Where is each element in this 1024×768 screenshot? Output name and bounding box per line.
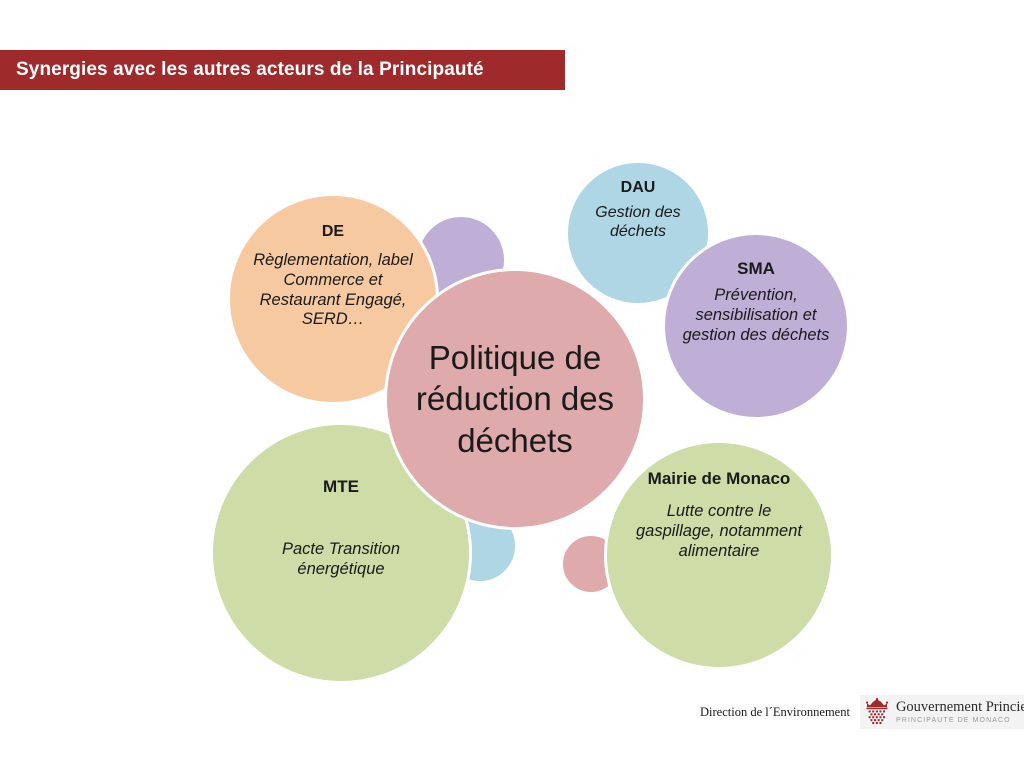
bubble-mte-title: MTE	[323, 477, 359, 496]
bubble-de-title: DE	[322, 223, 344, 241]
bubble-de-body: Règlementation, label Commerce et Restau…	[245, 251, 421, 330]
synergies-bubble-diagram: DE Règlementation, label Commerce et Res…	[0, 0, 1024, 768]
bubble-mairie-body: Lutte contre le gaspillage, notamment al…	[635, 502, 803, 561]
bubble-center-title: Politique de réduction des déchets	[390, 337, 640, 461]
bubble-sma[interactable]: SMA Prévention, sensibilisation et gesti…	[662, 232, 850, 420]
slide-footer: Direction de l´Environnement	[700, 692, 1000, 732]
bubble-mte-body: Pacte Transition énergétique	[246, 540, 436, 580]
bubble-center-policy[interactable]: Politique de réduction des déchets	[384, 268, 646, 530]
bubble-dau-body: Gestion des déchets	[586, 203, 690, 241]
slide-canvas: Synergies avec les autres acteurs de la …	[0, 0, 1024, 768]
bubble-sma-title: SMA	[737, 259, 775, 278]
logo-sub-text: PRINCIPAUTE DE MONACO	[896, 717, 1024, 724]
logo-text-group: Gouvernement Princier PRINCIPAUTE DE MON…	[896, 700, 1024, 724]
bubble-mairie-title: Mairie de Monaco	[644, 469, 794, 488]
monaco-crown-crest-icon	[864, 698, 890, 726]
bubble-mairie-de-monaco[interactable]: Mairie de Monaco Lutte contre le gaspill…	[604, 440, 834, 670]
bubble-dau-title: DAU	[621, 179, 656, 197]
footer-department-name: Direction de l´Environnement	[700, 705, 850, 720]
logo-main-text: Gouvernement Princier	[896, 700, 1024, 715]
bubble-sma-body: Prévention, sensibilisation et gestion d…	[674, 286, 838, 345]
gouvernement-princier-logo: Gouvernement Princier PRINCIPAUTE DE MON…	[860, 695, 1024, 729]
